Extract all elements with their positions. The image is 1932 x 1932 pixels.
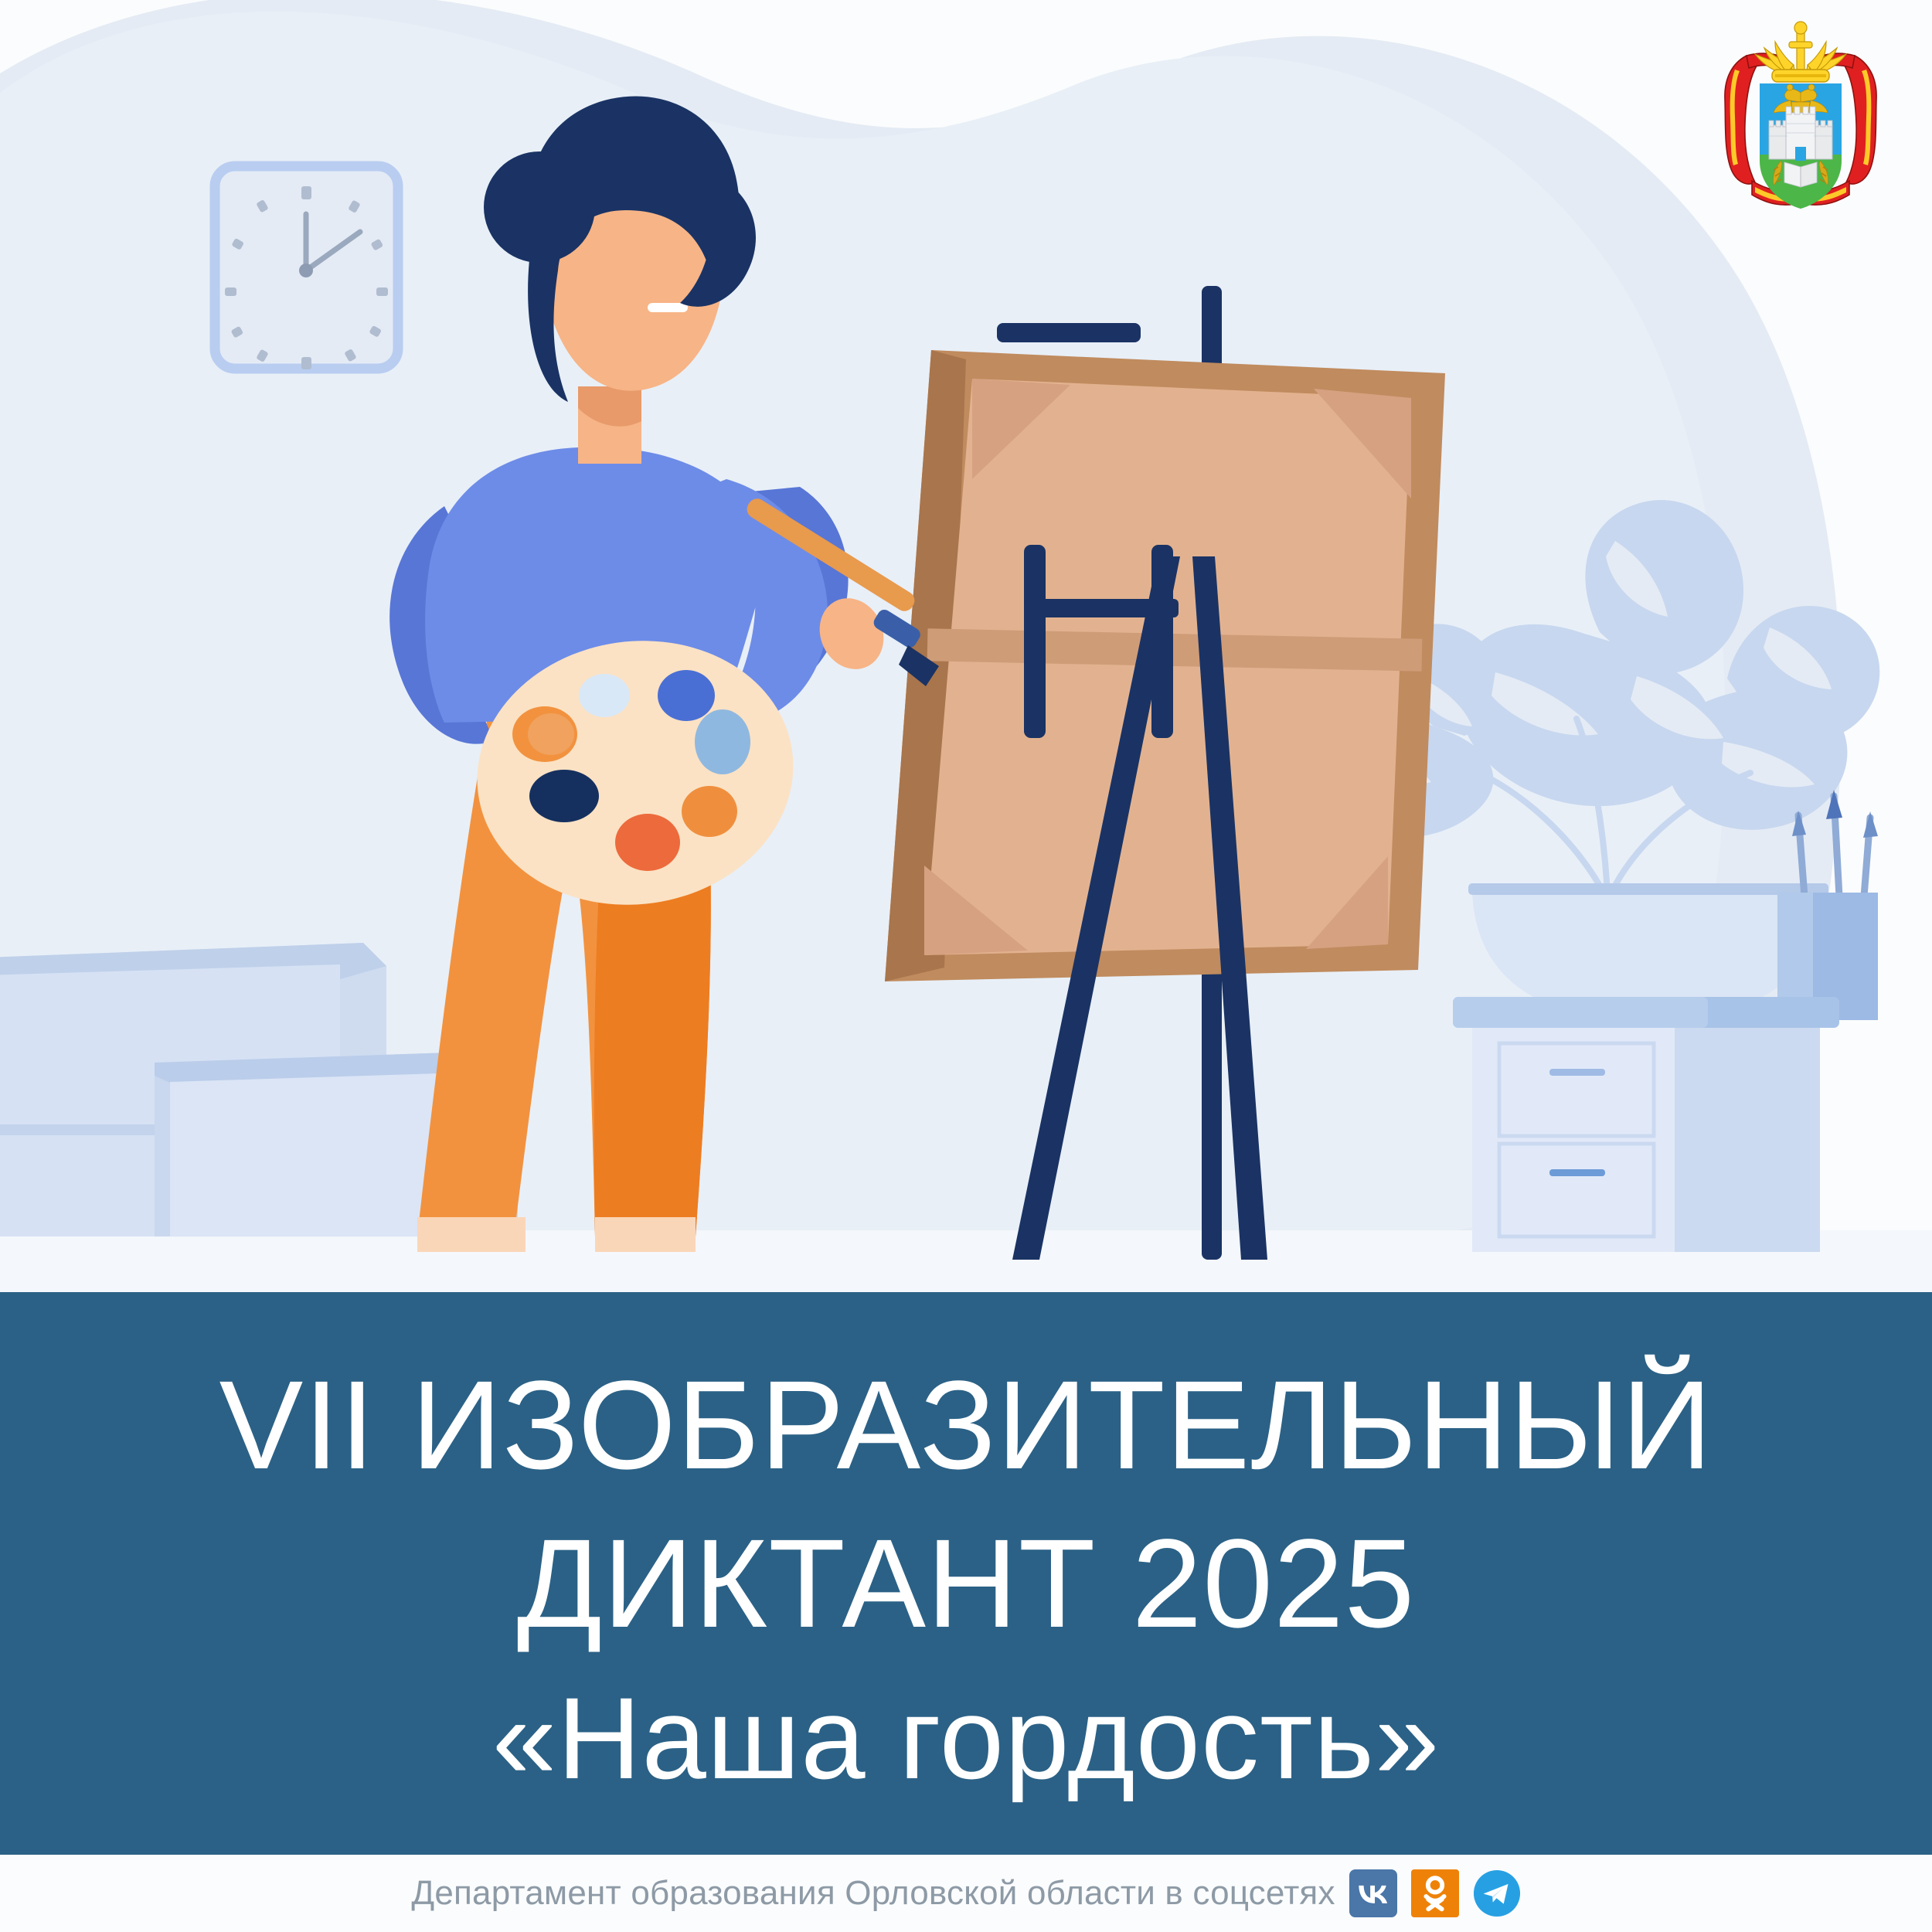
footer-label: Департамент образования Орловской област… — [411, 1874, 1335, 1913]
wall-clock — [215, 166, 398, 369]
title-line-1: VII ИЗОБРАЗИТЕЛЬНЫЙ — [219, 1362, 1713, 1488]
title-line-3: «Наша гордость» — [492, 1680, 1440, 1796]
drawer-cabinet — [1453, 997, 1839, 1252]
title-line-2: ДИКТАНТ 2025 — [517, 1520, 1416, 1646]
poster-root: VII ИЗОБРАЗИТЕЛЬНЫЙ ДИКТАНТ 2025 «Наша г… — [0, 0, 1932, 1932]
oryol-oblast-coat-of-arms-icon — [1704, 15, 1897, 236]
title-banner: VII ИЗОБРАЗИТЕЛЬНЫЙ ДИКТАНТ 2025 «Наша г… — [0, 1292, 1932, 1855]
vk-icon[interactable] — [1349, 1869, 1397, 1917]
illustration-scene — [0, 0, 1932, 1292]
footer-bar: Департамент образования Орловской област… — [0, 1855, 1932, 1932]
telegram-icon[interactable] — [1473, 1869, 1521, 1917]
crown-icon — [1755, 22, 1846, 82]
odnoklassniki-icon[interactable] — [1411, 1869, 1459, 1917]
